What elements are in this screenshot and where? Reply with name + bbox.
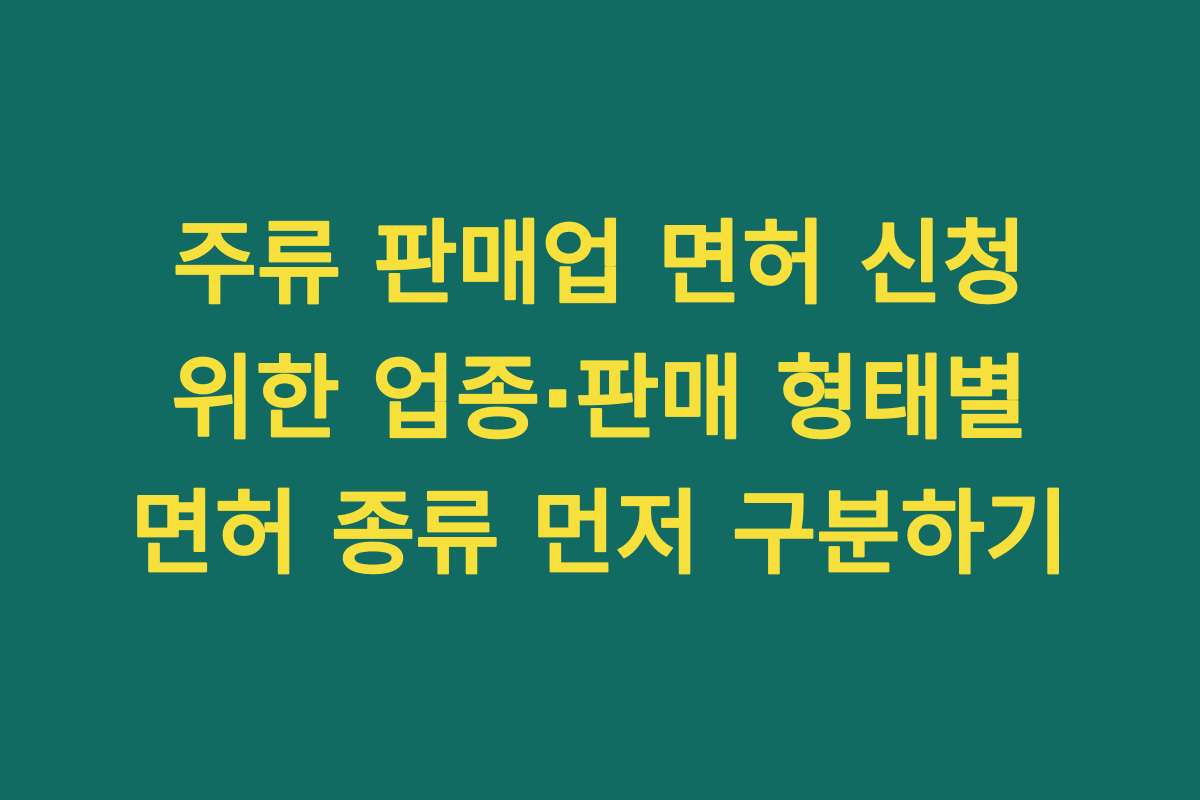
headline-line-3: 면허 종류 먼저 구분하기 <box>40 467 1160 602</box>
title-card: 주류 판매업 면허 신청 위한 업종·판매 형태별 면허 종류 먼저 구분하기 <box>0 0 1200 800</box>
headline-block: 주류 판매업 면허 신청 위한 업종·판매 형태별 면허 종류 먼저 구분하기 <box>0 197 1200 602</box>
headline-line-1: 주류 판매업 면허 신청 <box>40 197 1160 332</box>
headline-line-2: 위한 업종·판매 형태별 <box>40 332 1160 467</box>
